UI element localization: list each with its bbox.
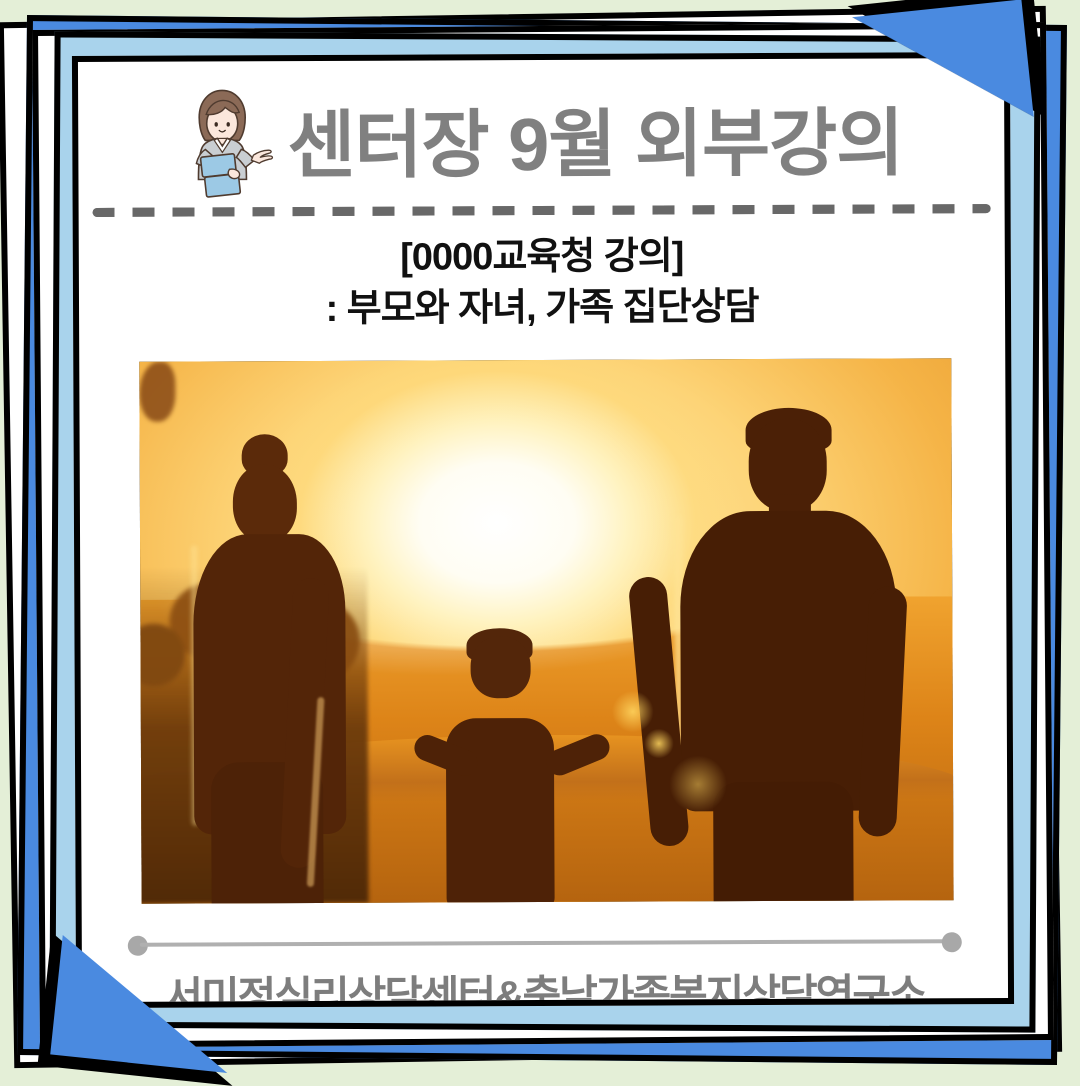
photo-mother-head	[233, 464, 297, 542]
subtitle-block: [0000교육청 강의] : 부모와 자녀, 가족 집단상담	[79, 230, 1005, 337]
photo-lens-flare	[612, 690, 654, 732]
rule-dot-right	[942, 932, 962, 952]
rule-line	[140, 939, 950, 947]
subtitle-line-2: : 부모와 자녀, 가족 집단상담	[79, 281, 1005, 336]
photo-father-legs	[714, 781, 855, 903]
poster-card: 센터장 9월 외부강의 [0000교육청 강의] : 부모와 자녀, 가족 집단…	[72, 52, 1014, 1008]
corner-fold-top-right	[852, 0, 1033, 135]
corner-fold-bottom-left	[50, 935, 240, 1073]
poster-card-content: 센터장 9월 외부강의 [0000교육청 강의] : 부모와 자녀, 가족 집단…	[78, 58, 1008, 1002]
photo-lens-flare	[669, 755, 727, 813]
photo-mother-hair	[139, 362, 175, 422]
photo-lens-flare	[644, 728, 674, 758]
page-title: 센터장 9월 외부강의	[287, 106, 903, 183]
dot-ended-rule	[128, 930, 962, 956]
poster-stage: 센터장 9월 외부강의 [0000교육청 강의] : 부모와 자녀, 가족 집단…	[0, 0, 1080, 1080]
photo-child-head	[470, 636, 530, 698]
female-presenter-icon	[179, 83, 278, 201]
subtitle-line-1: [0000교육청 강의]	[79, 230, 1005, 285]
family-sunset-silhouette-photo	[139, 358, 953, 904]
photo-child-torso	[446, 718, 555, 904]
